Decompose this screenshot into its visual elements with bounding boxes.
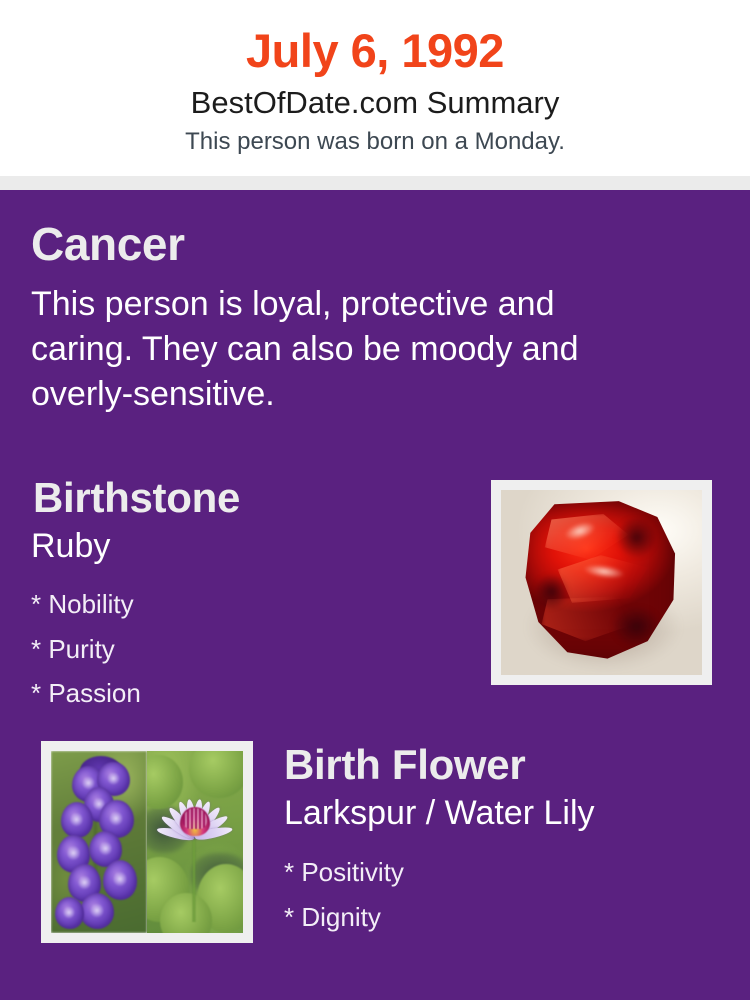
details-panel: Cancer This person is loyal, protective … — [0, 190, 750, 1000]
flower-two-pane — [51, 751, 243, 933]
birthstone-traits-list: * Nobility * Purity * Passion — [31, 582, 451, 716]
larkspur-photo — [51, 751, 147, 933]
list-item: * Dignity — [284, 895, 704, 940]
list-item: * Positivity — [284, 850, 704, 895]
list-item: * Nobility — [31, 582, 451, 627]
header: July 6, 1992 BestOfDate.com Summary This… — [0, 0, 750, 176]
birthstone-image-frame — [491, 480, 712, 685]
zodiac-sign-title: Cancer — [31, 220, 185, 268]
birth-flower-image — [51, 751, 243, 933]
birth-flower-name: Larkspur / Water Lily — [284, 795, 595, 832]
header-divider — [0, 176, 750, 190]
birthstone-name: Ruby — [31, 528, 110, 565]
larkspur-bloom — [103, 860, 138, 900]
lily-stamens — [180, 807, 209, 836]
page-title-date: July 6, 1992 — [0, 26, 750, 75]
birth-day-note: This person was born on a Monday. — [0, 129, 750, 155]
summary-card: July 6, 1992 BestOfDate.com Summary This… — [0, 0, 750, 1000]
birth-flower-traits-list: * Positivity * Dignity — [284, 850, 704, 939]
ruby-inclusion — [616, 517, 658, 558]
site-summary-label: BestOfDate.com Summary — [0, 86, 750, 120]
birthstone-image — [501, 490, 702, 675]
list-item: * Purity — [31, 627, 451, 672]
birthstone-heading: Birthstone — [33, 476, 240, 520]
larkspur-bloom — [61, 802, 94, 838]
larkspur-bloom — [80, 893, 115, 929]
larkspur-bloom — [55, 897, 84, 930]
list-item: * Passion — [31, 671, 451, 716]
birth-flower-image-frame — [41, 741, 253, 943]
zodiac-description: This person is loyal, protective and car… — [31, 282, 651, 417]
ruby-facet — [558, 555, 648, 603]
water-lily-bloom — [159, 780, 232, 860]
water-lily-photo — [147, 751, 243, 933]
birth-flower-heading: Birth Flower — [284, 743, 525, 787]
ruby-inclusion — [534, 574, 569, 609]
